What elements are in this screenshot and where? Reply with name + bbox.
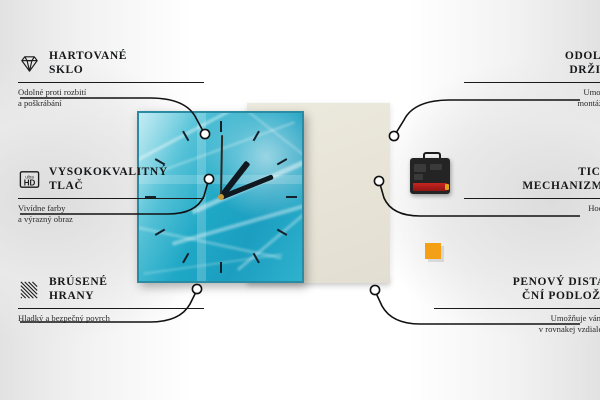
feature-header: BRÚSENÉ HRANY [18, 276, 204, 303]
feature-description: Odolné proti rozbití a poškrábání [18, 87, 204, 110]
clock-mechanism [410, 158, 450, 194]
infographic-stage: HARTOVANÉ SKLO Odolné proti rozbití a po… [0, 0, 600, 400]
feature-title-line1: HARTOVANÉ [49, 50, 127, 64]
feature-desc-line1: Hodinové ručičky [464, 203, 600, 214]
mechanism-notch [414, 174, 423, 180]
feature-description: Umožňuje snadnou montáž hodin na zeď [464, 87, 600, 110]
clock-tick [154, 229, 165, 236]
feature-title: TICHÝ MECHANIZMUS [522, 166, 600, 193]
feature-divider [18, 198, 204, 199]
ultra-hd-icon-bottom-label: HD [24, 178, 36, 187]
mechanism-notch [430, 164, 442, 170]
clock-tick [182, 253, 189, 264]
ultra-hd-icon: ultra HD [18, 168, 41, 191]
feature-title-line1: BRÚSENÉ [49, 276, 108, 290]
feature-foam-spacers: PENOVÝ DISTAN- ČNÍ PODLOŽKY Umožňuje vám… [434, 276, 600, 336]
feature-desc-line2: montáž hodin na zeď [464, 98, 600, 109]
clock-tick [220, 121, 222, 132]
feature-desc-line1: Odolné proti rozbití [18, 87, 204, 98]
feature-desc-line1: Umožňuje snadnou [464, 87, 600, 98]
feature-desc-line2: v rovnakej vzdialenosti od steny [434, 324, 600, 335]
clock-tick [252, 131, 259, 142]
feature-description: Vivídne farby a výrazný obraz [18, 203, 204, 226]
feature-header: HARTOVANÉ SKLO [18, 50, 204, 77]
feature-divider [18, 308, 204, 309]
feature-title: HARTOVANÉ SKLO [49, 50, 127, 77]
feature-header: ODOLNÝ DRŽIAK [464, 50, 600, 77]
mechanism-body [410, 158, 450, 194]
feature-title-line2: SKLO [49, 64, 127, 78]
battery [413, 183, 447, 191]
feature-desc-line2: a výrazný obraz [18, 214, 204, 225]
feature-desc-line2: bez zvuku [464, 214, 600, 225]
feature-title-line2: DRŽIAK [565, 64, 600, 78]
feature-title-line2: MECHANIZMUS [522, 180, 600, 194]
feature-desc-line2: a poškrábání [18, 98, 204, 109]
foam-spacer-pad [425, 243, 441, 259]
feature-header: ultra HD VYSOKOKVALITNÝ TLAČ [18, 166, 204, 193]
feature-title: ODOLNÝ DRŽIAK [565, 50, 600, 77]
feature-high-quality-print: ultra HD VYSOKOKVALITNÝ TLAČ Vivídne far… [18, 166, 204, 226]
feature-title-line1: VYSOKOKVALITNÝ [49, 166, 168, 180]
hatched-edge-icon [18, 278, 41, 301]
feature-desc-line1: Hladký a bezpečný povrch [18, 313, 204, 324]
feature-tempered-glass: HARTOVANÉ SKLO Odolné proti rozbití a po… [18, 50, 204, 110]
clock-tick [276, 158, 287, 165]
feature-title-line2: TLAČ [49, 180, 168, 194]
feature-title: VYSOKOKVALITNÝ TLAČ [49, 166, 168, 193]
feature-divider [434, 308, 600, 309]
feature-desc-line1: Umožňuje vám držať hodiny [434, 313, 600, 324]
clock-tick [220, 262, 222, 273]
clock-tick [286, 196, 297, 198]
feature-description: Hodinové ručičky bez zvuku [464, 203, 600, 226]
feature-title-line2: ČNÍ PODLOŽKY [513, 290, 600, 304]
clock-center-pin [218, 194, 224, 200]
feature-title-line1: TICHÝ [522, 166, 600, 180]
feature-title: PENOVÝ DISTAN- ČNÍ PODLOŽKY [513, 276, 600, 303]
feature-title-line2: HRANY [49, 290, 108, 304]
feature-divider [464, 82, 600, 83]
feature-title: BRÚSENÉ HRANY [49, 276, 108, 303]
clock-tick [276, 229, 287, 236]
feature-durable-hanger: ODOLNÝ DRŽIAK Umožňuje snadnou montáž ho… [464, 50, 600, 110]
diamond-icon [18, 52, 41, 75]
feature-desc-line1: Vivídne farby [18, 203, 204, 214]
clock-tick [154, 158, 165, 165]
mechanism-notch [414, 164, 426, 172]
clock-tick [252, 253, 259, 264]
feature-description: Hladký a bezpečný povrch [18, 313, 204, 324]
feature-divider [464, 198, 600, 199]
feature-header: PENOVÝ DISTAN- ČNÍ PODLOŽKY [434, 276, 600, 303]
feature-ground-edges: BRÚSENÉ HRANY Hladký a bezpečný povrch [18, 276, 204, 324]
feature-silent-mechanism: TICHÝ MECHANIZMUS Hodinové ručičky bez z… [464, 166, 600, 226]
feature-description: Umožňuje vám držať hodiny v rovnakej vzd… [434, 313, 600, 336]
feature-divider [18, 82, 204, 83]
feature-title-line1: ODOLNÝ [565, 50, 600, 64]
second-hand [220, 135, 223, 197]
feature-header: TICHÝ MECHANIZMUS [464, 166, 600, 193]
feature-title-line1: PENOVÝ DISTAN- [513, 276, 600, 290]
battery-cap [445, 184, 449, 190]
clock-tick [182, 131, 189, 142]
connector-endpoint [389, 131, 398, 140]
